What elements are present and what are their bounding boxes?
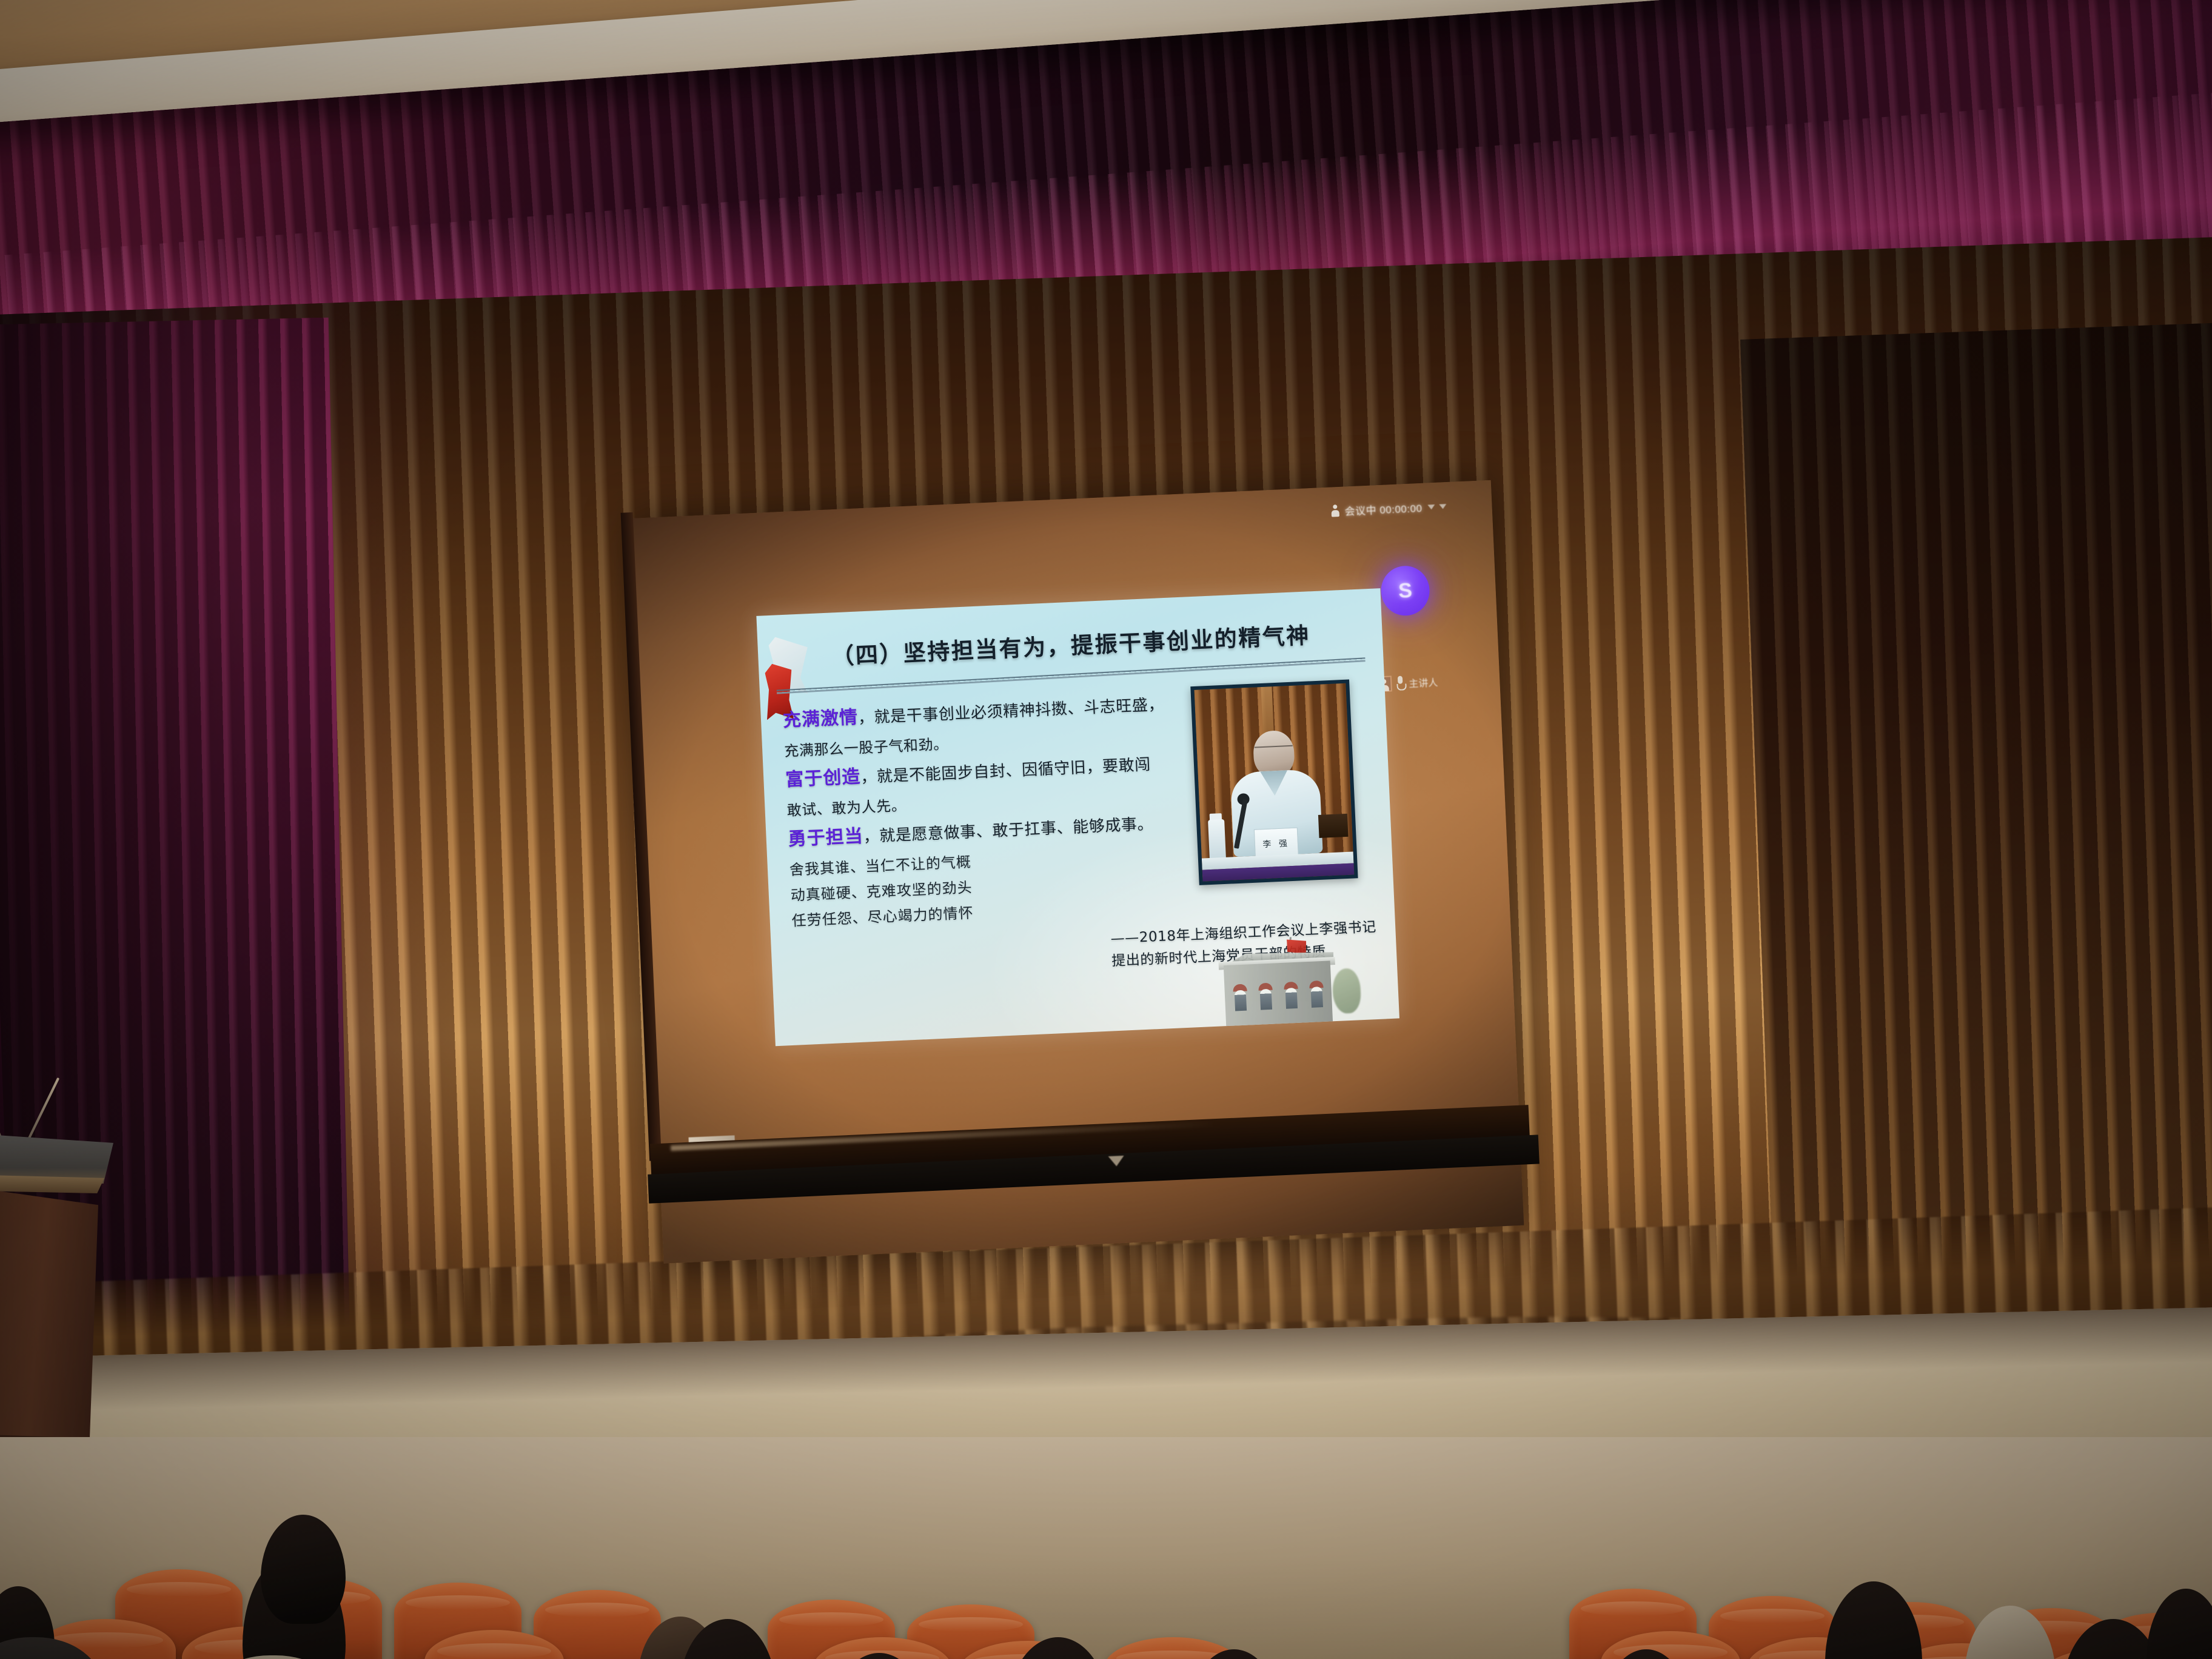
lectern-top bbox=[0, 1131, 113, 1184]
photo-content: 李 强 bbox=[1195, 683, 1355, 882]
auditorium-scene: 会议中 00:00:00 S 主讲人 （四）坚持担当有为，提振干事创业的精气神 bbox=[0, 0, 2212, 1659]
projection-screen: 会议中 00:00:00 S 主讲人 （四）坚持担当有为，提振干事创业的精气神 bbox=[631, 480, 1524, 1264]
presentation-slide: （四）坚持担当有为，提振干事创业的精气神 bbox=[756, 588, 1399, 1046]
building-tree bbox=[1332, 968, 1361, 1014]
slide-body: 充满激情，就是干事创业必须精神抖擞、斗志旺盛， 充满那么一股子气和劲。 富于创造… bbox=[782, 689, 1192, 933]
photo-nameplate-text: 李 强 bbox=[1262, 837, 1290, 850]
photo-glasses bbox=[1255, 745, 1293, 757]
slide-keyword-2: 富于创造 bbox=[785, 766, 861, 791]
building-window bbox=[1285, 988, 1298, 1009]
slide-point-2-text: ，就是不能固步自封、因循守旧，要敢闯 bbox=[860, 756, 1151, 786]
audience-area bbox=[0, 1437, 2212, 1659]
photo-desk-object bbox=[1318, 814, 1348, 838]
avatar-initial: S bbox=[1398, 578, 1412, 603]
microphone-icon[interactable] bbox=[1396, 676, 1404, 691]
lectern-front-panel bbox=[0, 1190, 98, 1444]
slide-photo-inset: 李 强 bbox=[1190, 680, 1358, 885]
lectern-lip bbox=[0, 1175, 109, 1193]
participant-name: 主讲人 bbox=[1409, 674, 1438, 690]
building-window bbox=[1235, 990, 1247, 1011]
slide-keyword-3: 勇于担当 bbox=[788, 826, 863, 850]
historic-building-illustration bbox=[1196, 933, 1363, 1031]
participant-strip[interactable]: 主讲人 bbox=[1376, 674, 1438, 692]
photo-water-bottle bbox=[1208, 819, 1227, 862]
building-window bbox=[1260, 989, 1272, 1010]
slide-keyword-1: 充满激情 bbox=[782, 707, 858, 731]
slide-point-3-text: ，就是愿意做事、敢于扛事、能够成事。 bbox=[863, 815, 1154, 846]
building-window bbox=[1310, 987, 1322, 1008]
chevron-down-icon[interactable] bbox=[1427, 504, 1446, 509]
person-icon bbox=[1331, 504, 1339, 518]
screen-center-marker bbox=[1108, 1156, 1125, 1167]
